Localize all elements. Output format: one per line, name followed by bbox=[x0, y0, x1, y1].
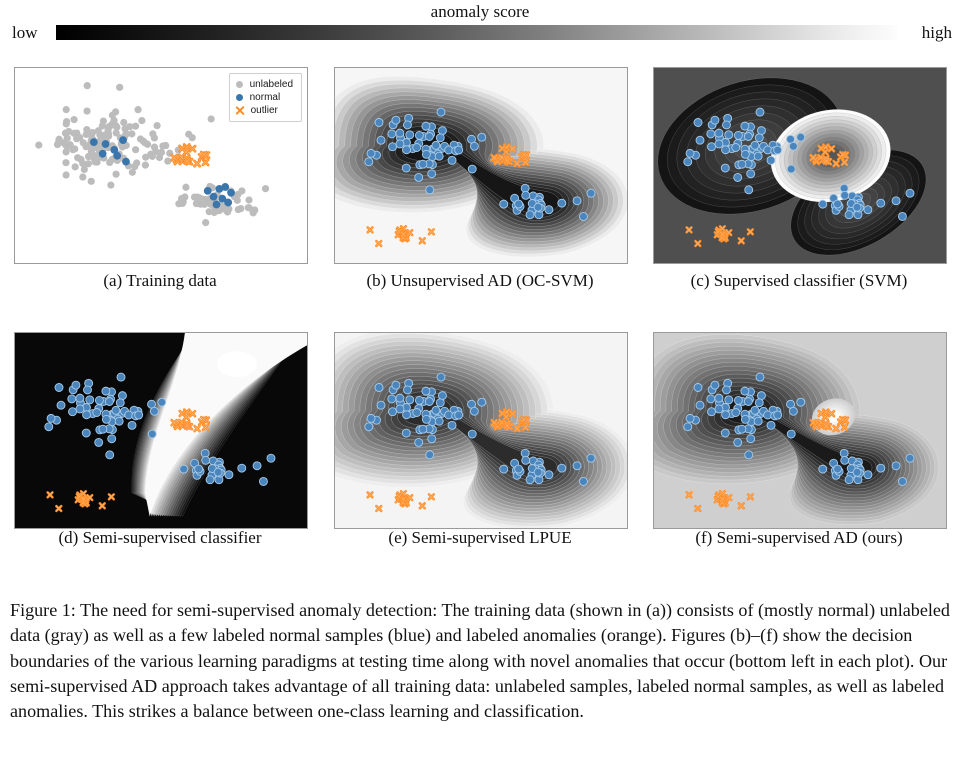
figure-caption: Figure 1: The need for semi-supervised a… bbox=[10, 598, 952, 724]
colorbar-high-label: high bbox=[922, 23, 952, 43]
legend-label-normal: normal bbox=[250, 91, 281, 104]
legend-item-unlabeled: unlabeled bbox=[236, 78, 293, 91]
panel-d-scatter bbox=[15, 333, 307, 528]
panel-d-caption: (d) Semi-supervised classifier bbox=[7, 528, 313, 548]
panel-d-semi-supervised-classifier bbox=[14, 332, 308, 529]
panel-b-caption: (b) Unsupervised AD (OC-SVM) bbox=[327, 271, 633, 291]
colorbar-gradient bbox=[56, 25, 900, 40]
legend-item-normal: normal bbox=[236, 91, 293, 104]
panel-f-caption: (f) Semi-supervised AD (ours) bbox=[646, 528, 952, 548]
panel-e-scatter bbox=[335, 333, 627, 528]
legend-label-outlier: outlier bbox=[251, 104, 278, 117]
panel-c-caption: (c) Supervised classifier (SVM) bbox=[646, 271, 952, 291]
colorbar-low-label: low bbox=[12, 23, 38, 43]
panel-a-training-data: unlabeled normal outlier bbox=[14, 67, 308, 264]
legend-label-unlabeled: unlabeled bbox=[250, 78, 293, 91]
colorbar-region: anomaly score low high bbox=[0, 0, 960, 48]
panel-b-unsupervised-ad bbox=[334, 67, 628, 264]
panel-b-scatter bbox=[335, 68, 627, 263]
panel-c-scatter bbox=[654, 68, 946, 263]
normal-marker-icon bbox=[236, 94, 243, 101]
panel-a-caption: (a) Training data bbox=[7, 271, 313, 291]
outlier-marker-icon bbox=[236, 106, 244, 115]
panel-e-caption: (e) Semi-supervised LPUE bbox=[327, 528, 633, 548]
panel-c-supervised-classifier bbox=[653, 67, 947, 264]
panel-f-semi-supervised-ad bbox=[653, 332, 947, 529]
panel-f-scatter bbox=[654, 333, 946, 528]
legend-item-outlier: outlier bbox=[236, 104, 293, 117]
colorbar-title: anomaly score bbox=[0, 2, 960, 22]
unlabeled-marker-icon bbox=[236, 81, 243, 88]
panel-e-semi-supervised-lpue bbox=[334, 332, 628, 529]
legend: unlabeled normal outlier bbox=[229, 73, 302, 122]
